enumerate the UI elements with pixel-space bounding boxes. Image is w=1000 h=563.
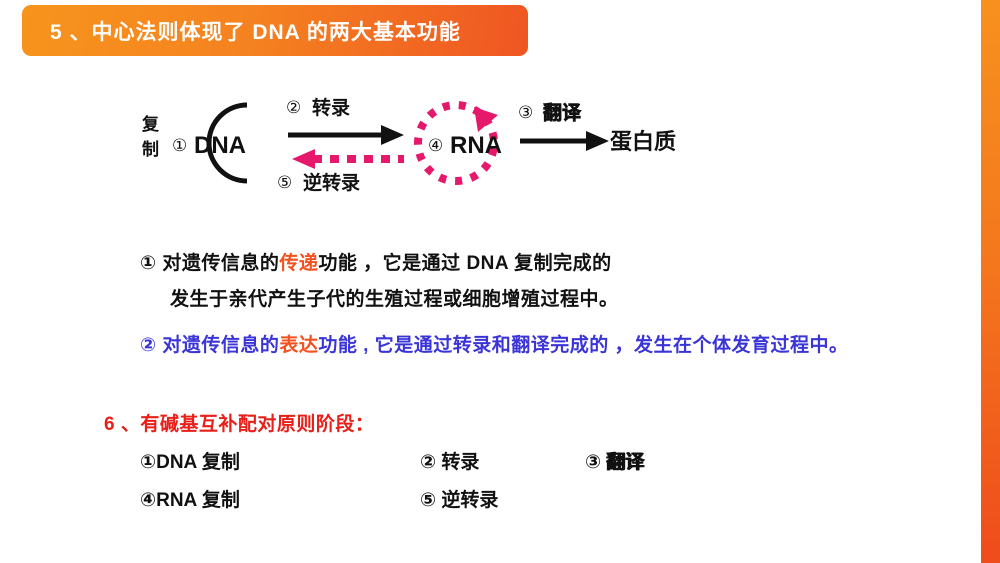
page-title: 5 、中心法则体现了 DNA 的两大基本功能 [50, 16, 461, 46]
title-banner: 5 、中心法则体现了 DNA 的两大基本功能 [22, 5, 528, 56]
note-1-text-a: 对遗传信息的 [157, 253, 280, 274]
dna-label: DNA [194, 132, 246, 159]
note-item-2: ② 对遗传信息的表达功能 , 它是通过转录和翻译完成的 ，发生在个体发育过程中。 [140, 330, 849, 357]
transcription-label: 转录 [312, 96, 350, 119]
replication-label-line2: 制 [142, 139, 159, 159]
translation-marker: ③ [518, 103, 533, 122]
protein-label: 蛋白质 [610, 129, 676, 154]
note-2-marker: ② [140, 335, 157, 356]
reverse-transcription-label: 逆转录 [303, 171, 360, 194]
transcription-arrow-icon [288, 125, 404, 145]
section-6-list: ①DNA 复制 ② 转录 ③ 翻译 ④RNA 复制 ⑤ 逆转录 [140, 447, 780, 523]
note-1-marker: ① [140, 253, 157, 274]
slide-root: 5 、中心法则体现了 DNA 的两大基本功能 [0, 0, 1000, 563]
list-item-label: 翻译 [601, 452, 644, 473]
list-row: ①DNA 复制 ② 转录 ③ 翻译 [140, 447, 780, 485]
note-2-text-a: 对遗传信息的 [157, 335, 280, 356]
reverse-transcription-arrow-icon [292, 149, 404, 169]
list-item: ⑤ 逆转录 [420, 485, 585, 512]
reverse-transcription-marker: ⑤ [277, 173, 292, 192]
list-item-marker: ③ [585, 452, 601, 473]
list-item-marker: ② [420, 452, 436, 473]
list-item-label: RNA 复制 [156, 490, 240, 511]
list-item-label: DNA 复制 [156, 452, 240, 473]
note-1-highlight: 传递 [279, 253, 318, 274]
note-item-1-line2: 发生于亲代产生子代的生殖过程或细胞增殖过程中。 [170, 284, 619, 311]
rna-label: RNA [450, 132, 502, 159]
note-item-1: ① 对遗传信息的传递功能 ，它是通过 DNA 复制完成的 [140, 248, 612, 275]
dna-marker: ① [172, 136, 187, 155]
translation-label: 翻译 [543, 101, 582, 124]
replication-label-line1: 复 [141, 114, 160, 134]
note-1-text-b: 功能 ，它是通过 DNA 复制完成的 [318, 253, 611, 274]
list-row: ④RNA 复制 ⑤ 逆转录 [140, 485, 780, 523]
list-item-label: 转录 [436, 452, 479, 473]
list-item: ② 转录 [420, 447, 585, 474]
section-6-heading: 6 、有碱基互补配对原则阶段： [104, 409, 374, 436]
transcription-marker: ② [286, 98, 301, 117]
list-item: ①DNA 复制 [140, 447, 420, 474]
list-item-marker: ④ [140, 490, 156, 511]
list-item-marker: ⑤ [420, 490, 436, 511]
note-2-text-b: 功能 , 它是通过转录和翻译完成的 ，发生在个体发育过程中。 [318, 335, 848, 356]
list-item: ③ 翻译 [585, 447, 735, 474]
rna-marker: ④ [428, 136, 443, 155]
note-2-highlight: 表达 [279, 335, 318, 356]
list-item: ④RNA 复制 [140, 485, 420, 512]
list-item-label: 逆转录 [436, 490, 498, 511]
translation-arrow-icon [520, 131, 609, 151]
central-dogma-diagram: 复 制 ① DNA ② 转录 ⑤ 逆转录 ④ RNA ③ 翻译 蛋白质 [0, 85, 1000, 205]
list-item-marker: ① [140, 452, 156, 473]
